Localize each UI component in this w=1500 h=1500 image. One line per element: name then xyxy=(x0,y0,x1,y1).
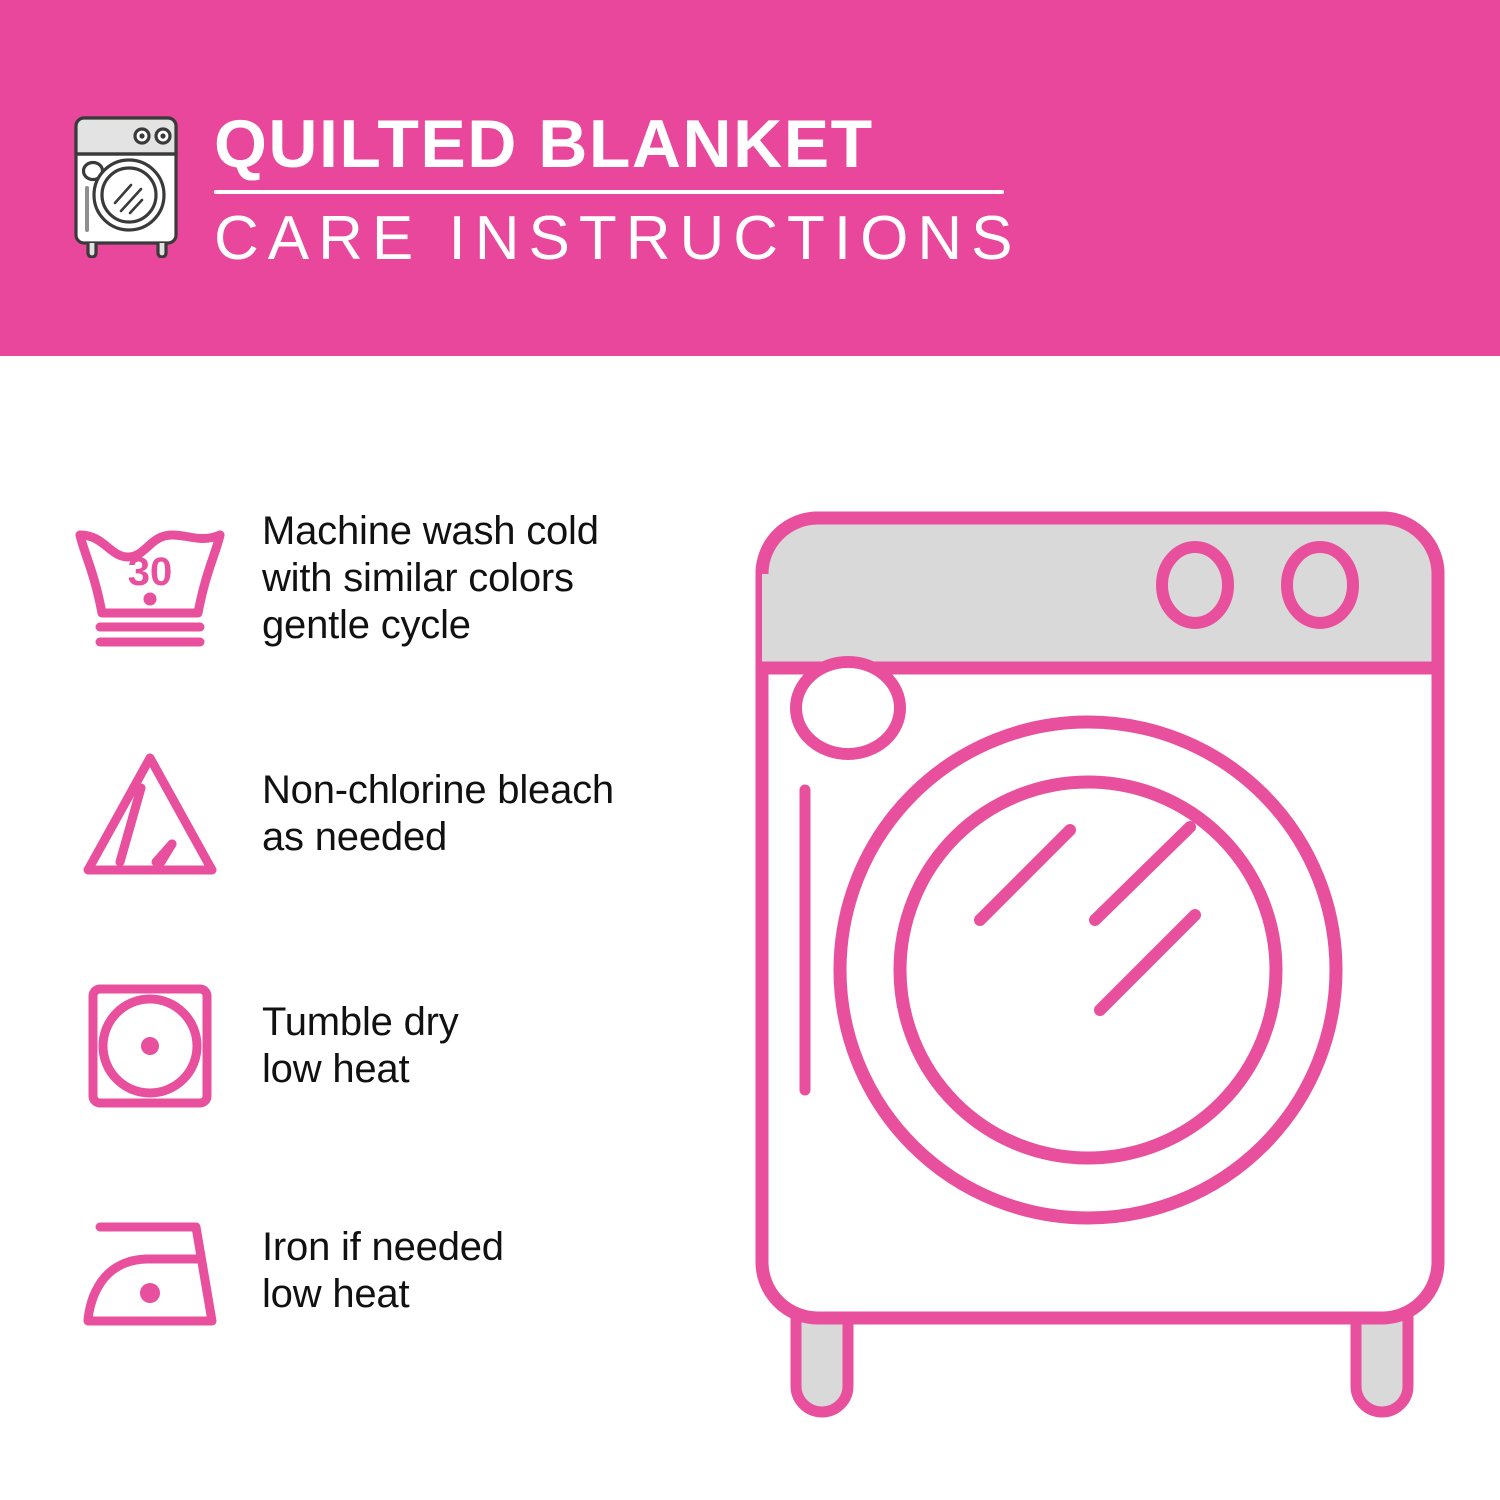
non-chlorine-bleach-triangle-icon xyxy=(60,744,240,884)
care-item-tumble-dry: Tumble dry low heat xyxy=(60,976,459,1116)
wash-tub-30-gentle-icon: 30 xyxy=(60,509,240,649)
care-item-iron-text: Iron if needed low heat xyxy=(262,1224,504,1318)
care-text-line: low heat xyxy=(262,1271,504,1318)
care-text-line: as needed xyxy=(262,814,614,861)
page-title: QUILTED BLANKET xyxy=(214,110,1021,178)
care-text-line: with similar colors xyxy=(262,555,599,602)
page-subtitle: CARE INSTRUCTIONS xyxy=(214,208,1021,270)
detergent-indicator xyxy=(796,662,900,754)
door-inner-ring xyxy=(900,782,1276,1158)
front-load-washing-machine-illustration xyxy=(740,490,1460,1440)
header-banner: QUILTED BLANKET CARE INSTRUCTIONS xyxy=(0,0,1500,356)
title-divider xyxy=(214,190,1004,194)
care-item-bleach: Non-chlorine bleach as needed xyxy=(60,744,614,884)
care-text-line: Tumble dry xyxy=(262,999,459,1046)
care-item-bleach-text: Non-chlorine bleach as needed xyxy=(262,767,614,861)
care-item-wash: 30 Machine wash cold with similar colors… xyxy=(60,508,599,650)
care-item-iron: Iron if needed low heat xyxy=(60,1201,504,1341)
washing-machine-icon xyxy=(62,108,192,258)
care-text-line: Non-chlorine bleach xyxy=(262,767,614,814)
header-text-block: QUILTED BLANKET CARE INSTRUCTIONS xyxy=(214,104,1021,270)
care-text-line: gentle cycle xyxy=(262,602,599,649)
iron-low-heat-icon xyxy=(60,1201,240,1341)
knob-left xyxy=(1162,547,1228,623)
wash-temperature-label: 30 xyxy=(128,550,173,594)
care-text-line: low heat xyxy=(262,1046,459,1093)
care-instructions-infographic: QUILTED BLANKET CARE INSTRUCTIONS 30 xyxy=(0,0,1500,1500)
care-symbol-list: 30 Machine wash cold with similar colors… xyxy=(0,356,740,1500)
tumble-dry-low-heat-icon xyxy=(60,976,240,1116)
care-text-line: Machine wash cold xyxy=(262,508,599,555)
care-text-line: Iron if needed xyxy=(262,1224,504,1271)
care-item-wash-text: Machine wash cold with similar colors ge… xyxy=(262,508,599,650)
header-content: QUILTED BLANKET CARE INSTRUCTIONS xyxy=(62,104,1021,270)
care-item-tumble-dry-text: Tumble dry low heat xyxy=(262,999,459,1093)
knob-right xyxy=(1287,547,1353,623)
